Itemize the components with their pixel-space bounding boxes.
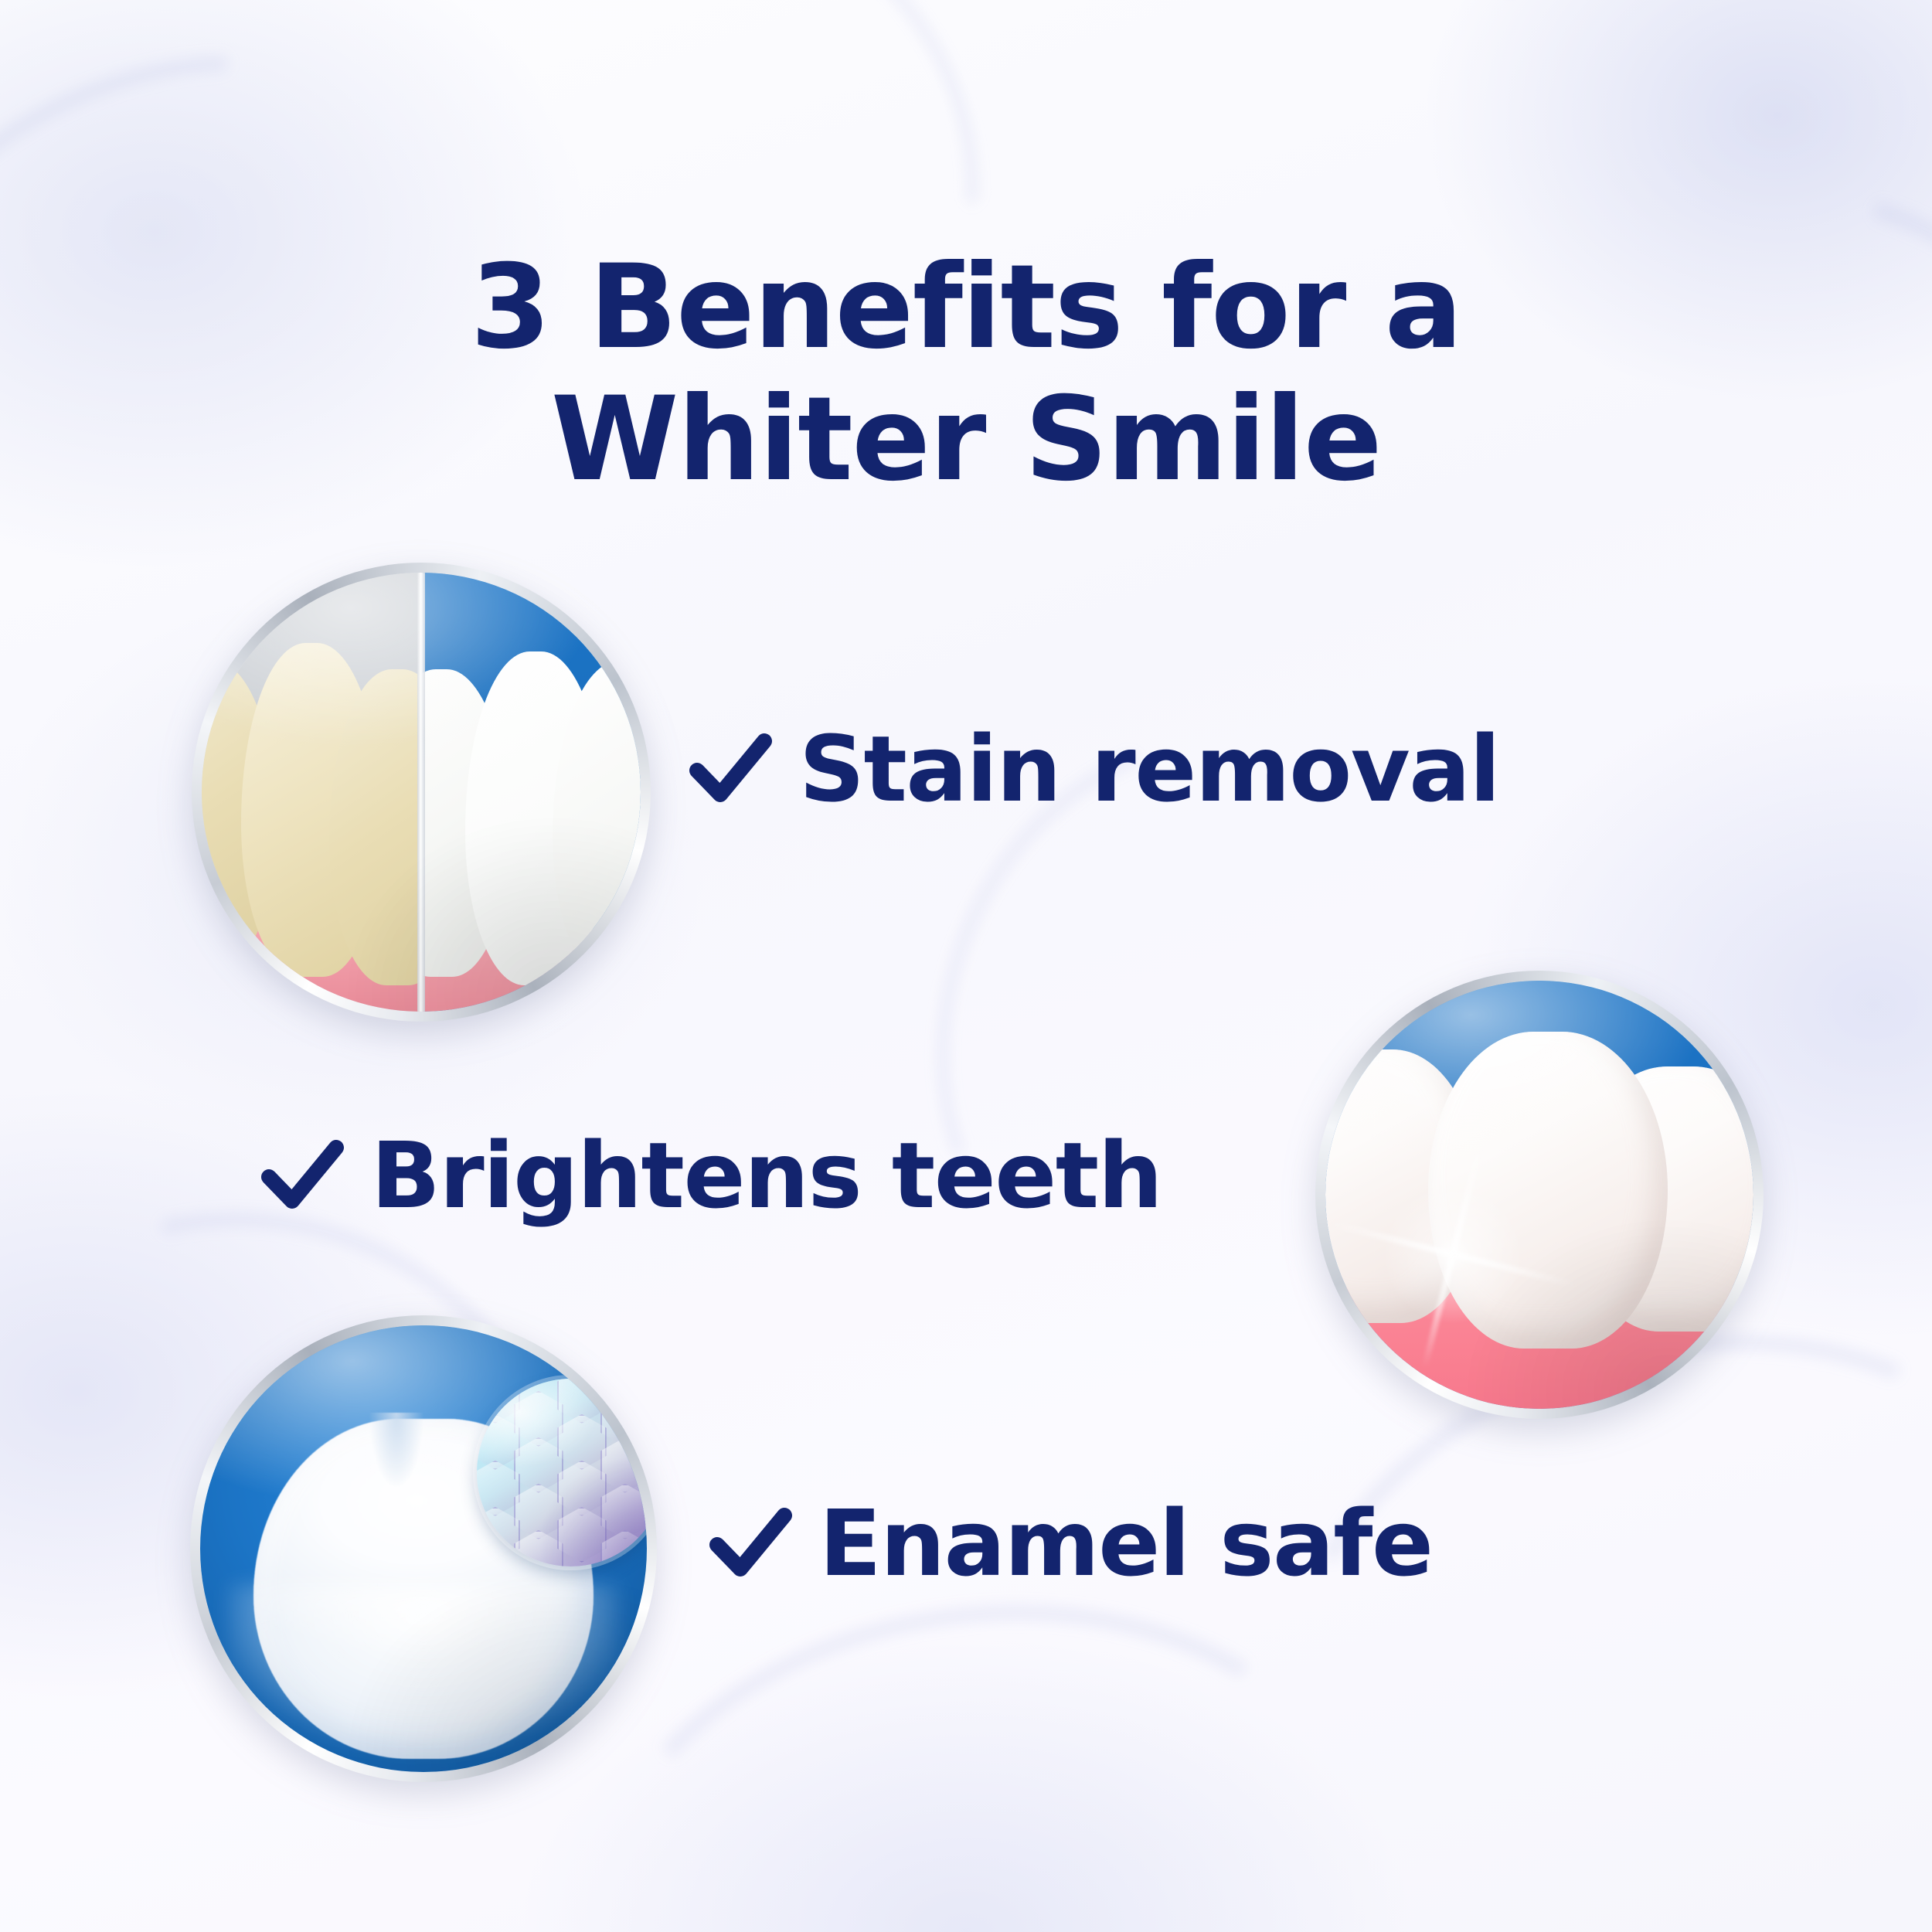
- after-half-whitened: [421, 573, 641, 1012]
- before-half-stained: [202, 573, 421, 1012]
- promo-canvas: 3 Benefits for a Whiter Smile: [0, 0, 1932, 1932]
- check-icon: [261, 1135, 345, 1216]
- benefit-item-brightens-teeth: Brightens teeth: [261, 1130, 1162, 1221]
- check-icon: [709, 1503, 793, 1583]
- benefit-image-brightens-teeth: [1315, 971, 1764, 1419]
- benefit-label-enamel-safe: Enamel safe: [819, 1498, 1432, 1589]
- check-icon: [689, 729, 773, 809]
- benefit-image-stain-removal: [192, 563, 651, 1022]
- benefit-item-stain-removal: Stain removal: [689, 723, 1499, 815]
- page-title-line-1: 3 Benefits for a: [0, 242, 1932, 374]
- page-title: 3 Benefits for a Whiter Smile: [0, 242, 1932, 506]
- before-after-divider: [417, 573, 425, 1012]
- enamel-hexagon-magnifier-icon: [477, 1379, 647, 1566]
- benefit-label-brightens-teeth: Brightens teeth: [371, 1130, 1162, 1221]
- tooth-glow: [227, 1584, 621, 1763]
- benefit-label-stain-removal: Stain removal: [799, 723, 1499, 815]
- page-title-line-2: Whiter Smile: [0, 374, 1932, 506]
- benefit-item-enamel-safe: Enamel safe: [709, 1498, 1432, 1589]
- benefit-image-enamel-safe: [190, 1315, 657, 1782]
